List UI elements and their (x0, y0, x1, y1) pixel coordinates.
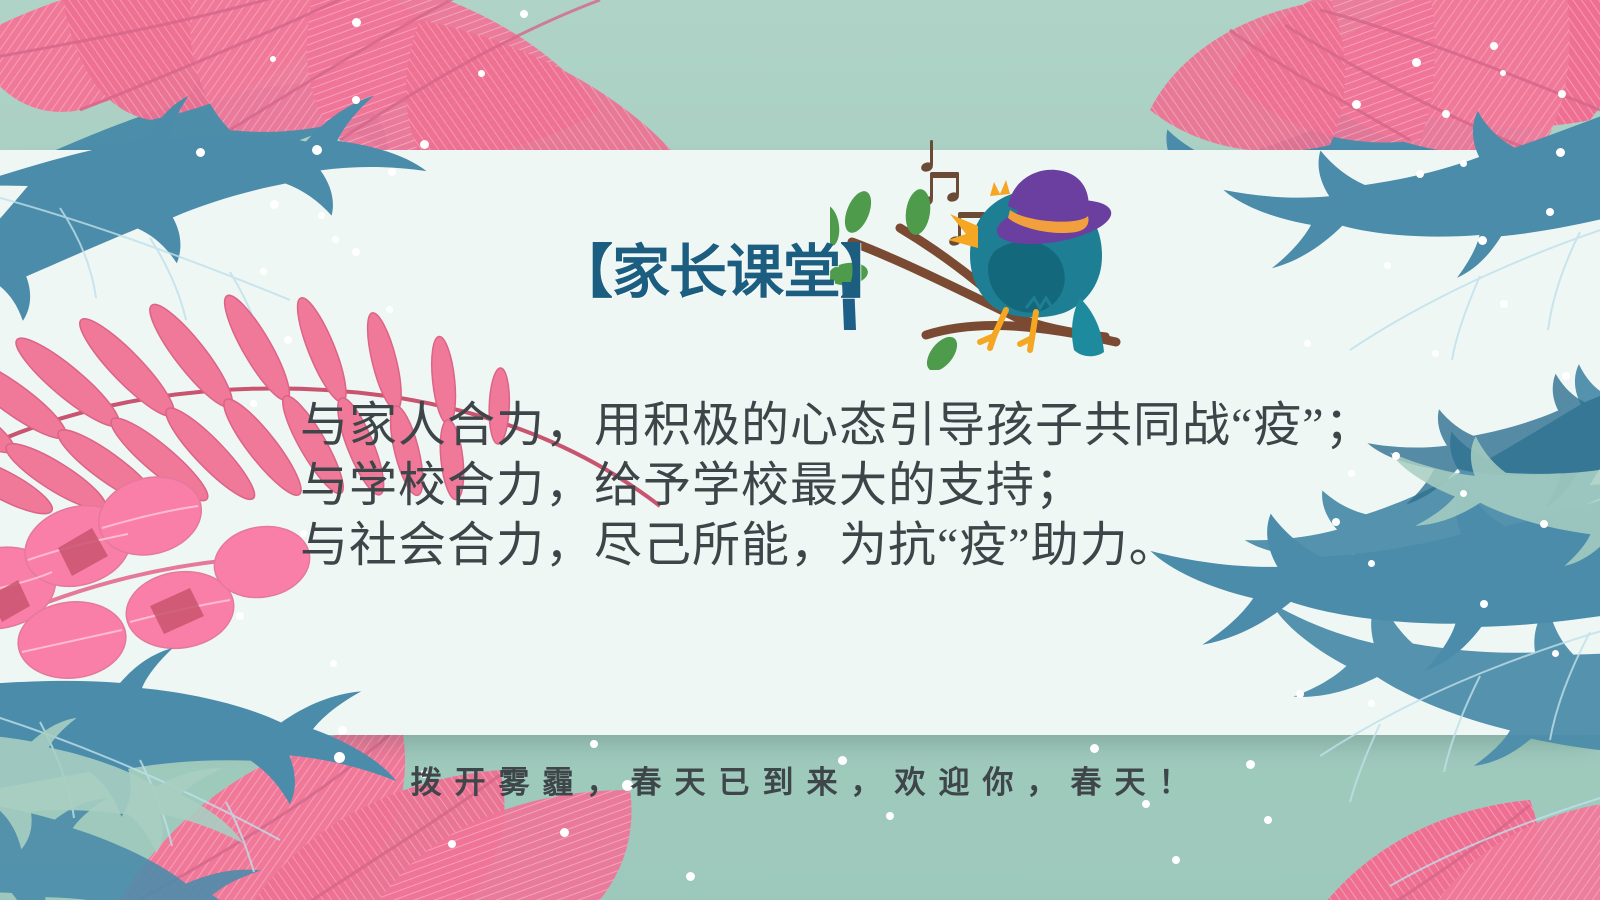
body-line-1: 与家人合力，用积极的心态引导孩子共同战“疫”； (300, 396, 1520, 456)
body-line-2: 与学校合力，给予学校最大的支持； (300, 456, 1520, 516)
page-title: 【家长课堂】 (555, 243, 897, 301)
body-line-3: 与社会合力，尽己所能，为抗“疫”助力。 (300, 516, 1520, 576)
body-text: 与家人合力，用积极的心态引导孩子共同战“疫”； 与学校合力，给予学校最大的支持；… (300, 396, 1520, 576)
footer-slogan: 拨开雾霾，春天已到来，欢迎你，春天！ (0, 757, 1600, 802)
slide-canvas: 【家长课堂】 与家人合力，用积极的心态引导孩子共同战“疫”； 与学校合力，给予学… (0, 0, 1600, 900)
